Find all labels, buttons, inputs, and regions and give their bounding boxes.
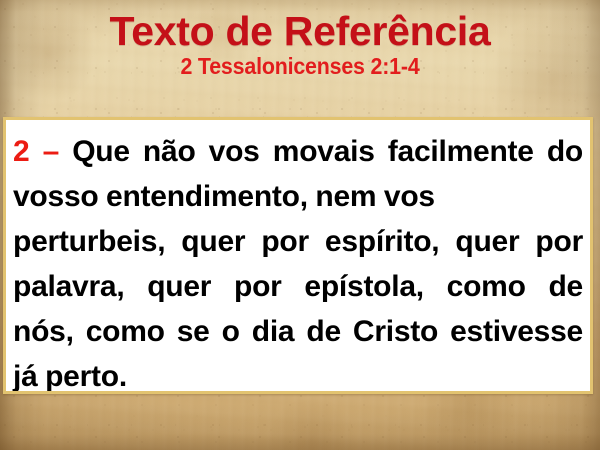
page-title: Texto de Referência: [0, 0, 600, 53]
slide-header: Texto de Referência 2 Tessalonicenses 2:…: [0, 0, 600, 79]
verse-text-block: 2 – Que não vos movais facilmente do vos…: [6, 120, 590, 394]
verse-panel: 2 – Que não vos movais facilmente do vos…: [3, 117, 593, 394]
verse-line-1-text: Que não vos movais facilmente do: [72, 135, 583, 168]
verse-line-5: nós, como se o dia de Cristo estivesse: [13, 309, 583, 354]
verse-line-2: vosso entendimento, nem vos: [13, 174, 583, 219]
verse-line-4: palavra, quer por epístola, como de: [13, 264, 583, 309]
verse-line-3: perturbeis, quer por espírito, quer por: [13, 219, 583, 264]
verse-line-1: 2 – Que não vos movais facilmente do: [13, 129, 583, 174]
verse-number: 2 –: [13, 135, 72, 168]
slide-canvas: Texto de Referência 2 Tessalonicenses 2:…: [0, 0, 600, 450]
scripture-reference-subtitle: 2 Tessalonicenses 2:1-4: [21, 53, 579, 79]
verse-line-6: já perto.: [13, 354, 583, 394]
